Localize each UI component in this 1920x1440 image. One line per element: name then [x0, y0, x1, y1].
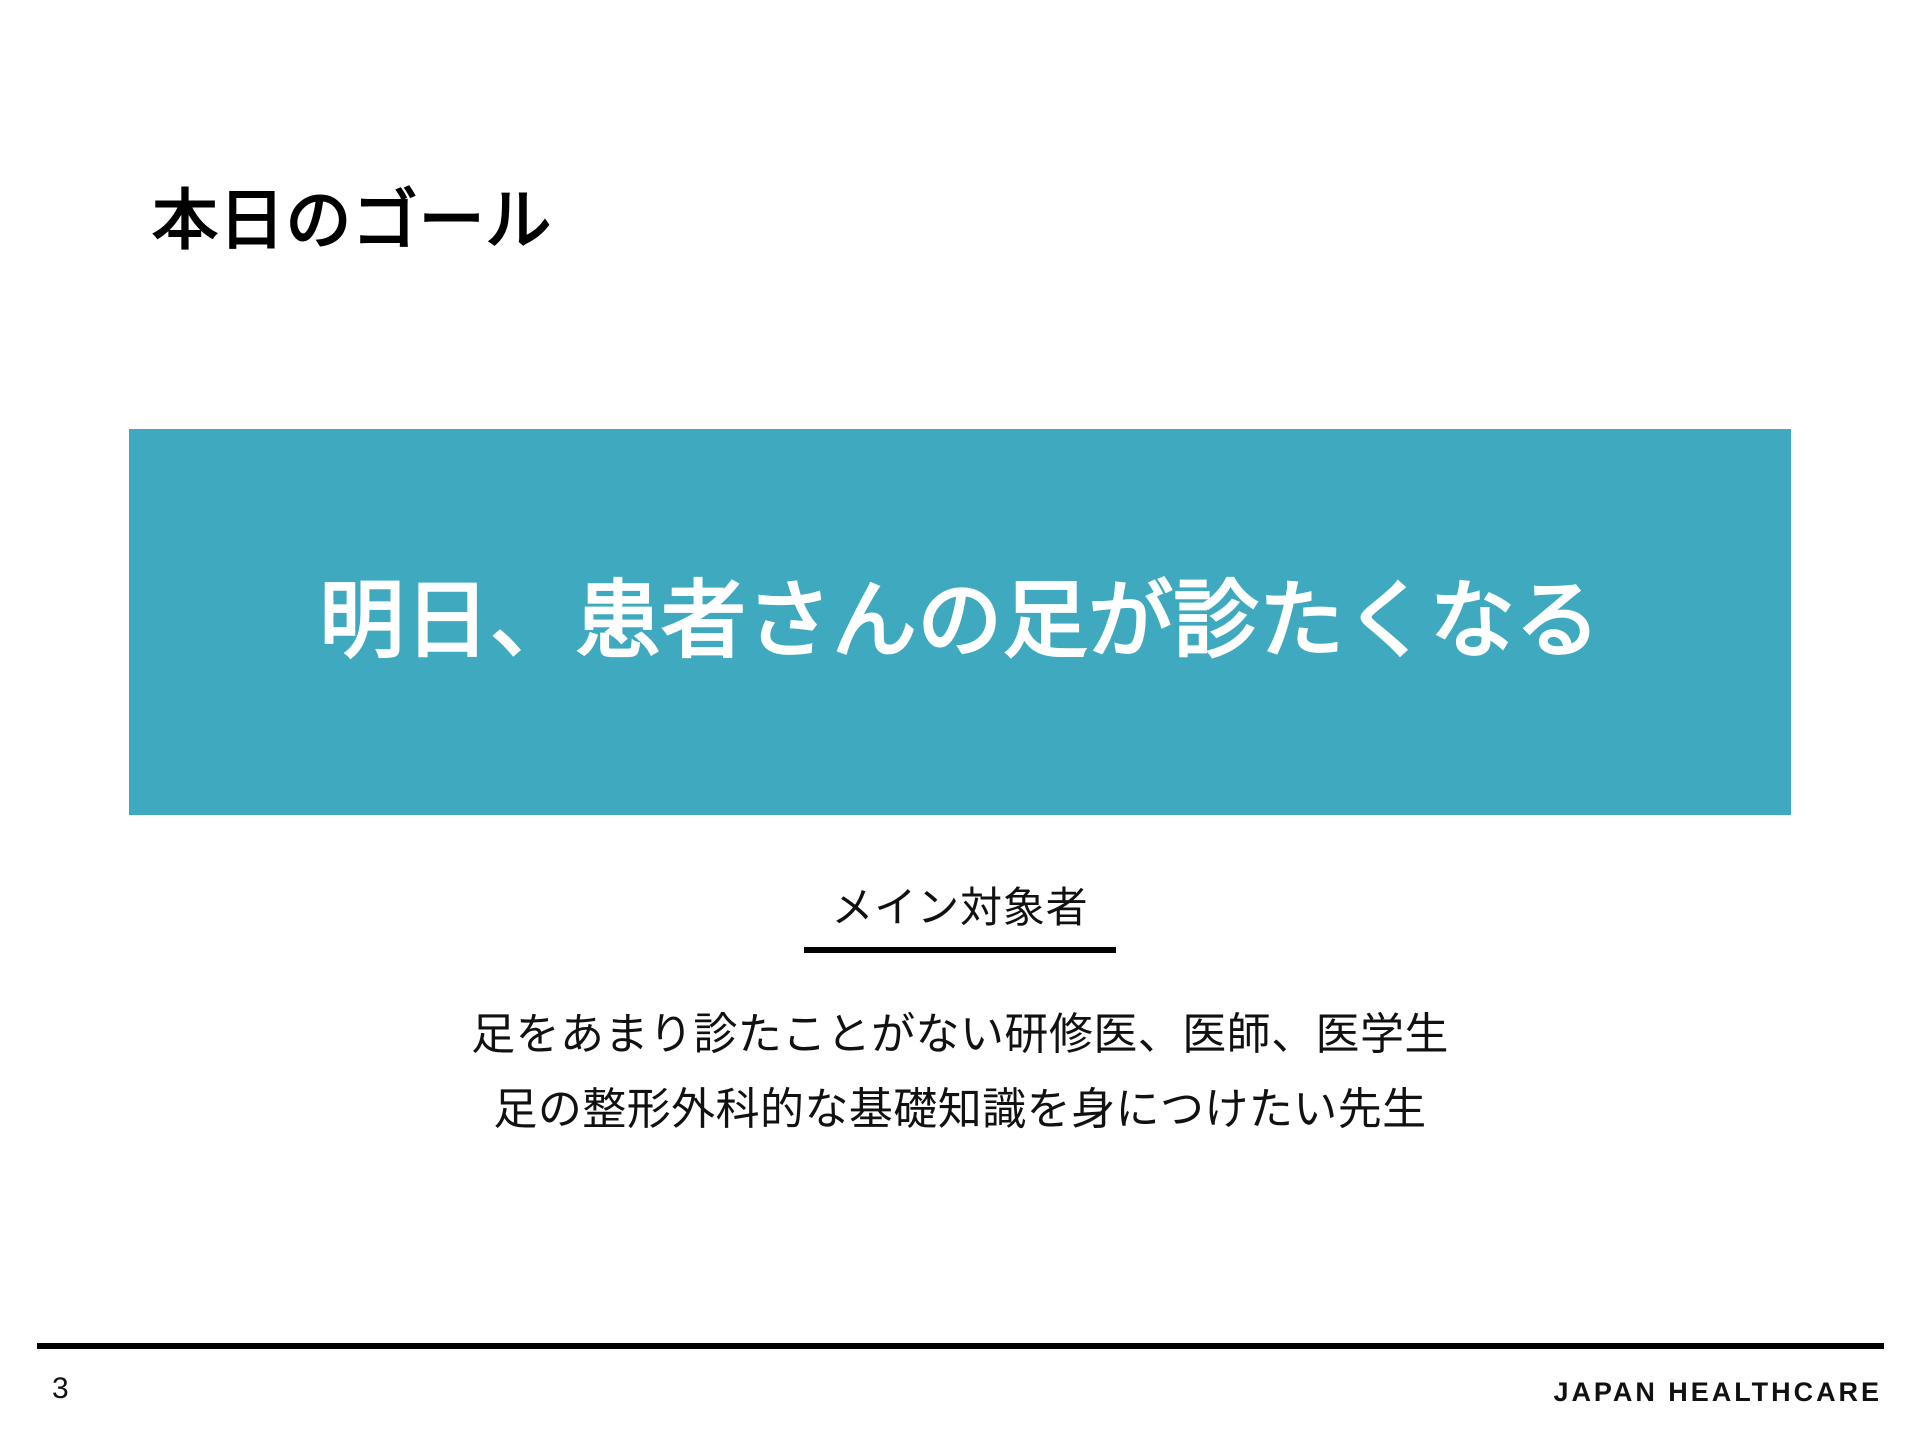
- target-audience-heading-block: メイン対象者: [0, 882, 1920, 953]
- goal-banner-text: 明日、患者さんの足が診たくなる: [319, 571, 1600, 673]
- target-audience-list: 足をあまり診たことがない研修医、医師、医学生 足の整形外科的な基礎知識を身につけ…: [0, 1006, 1920, 1138]
- slide-root: 本日のゴール 明日、患者さんの足が診たくなる メイン対象者 足をあまり診たことが…: [0, 0, 1920, 1440]
- target-audience-underline: [804, 947, 1116, 953]
- goal-banner: 明日、患者さんの足が診たくなる: [129, 429, 1791, 815]
- footer-divider: [37, 1343, 1884, 1349]
- brand-logo-text: JAPAN HEALTHCARE: [1553, 1377, 1882, 1408]
- list-item: 足をあまり診たことがない研修医、医師、医学生: [471, 1006, 1449, 1063]
- target-audience-heading: メイン対象者: [831, 882, 1088, 935]
- page-title: 本日のゴール: [152, 182, 552, 260]
- page-number: 3: [52, 1372, 69, 1406]
- list-item: 足の整形外科的な基礎知識を身につけたい先生: [493, 1081, 1426, 1138]
